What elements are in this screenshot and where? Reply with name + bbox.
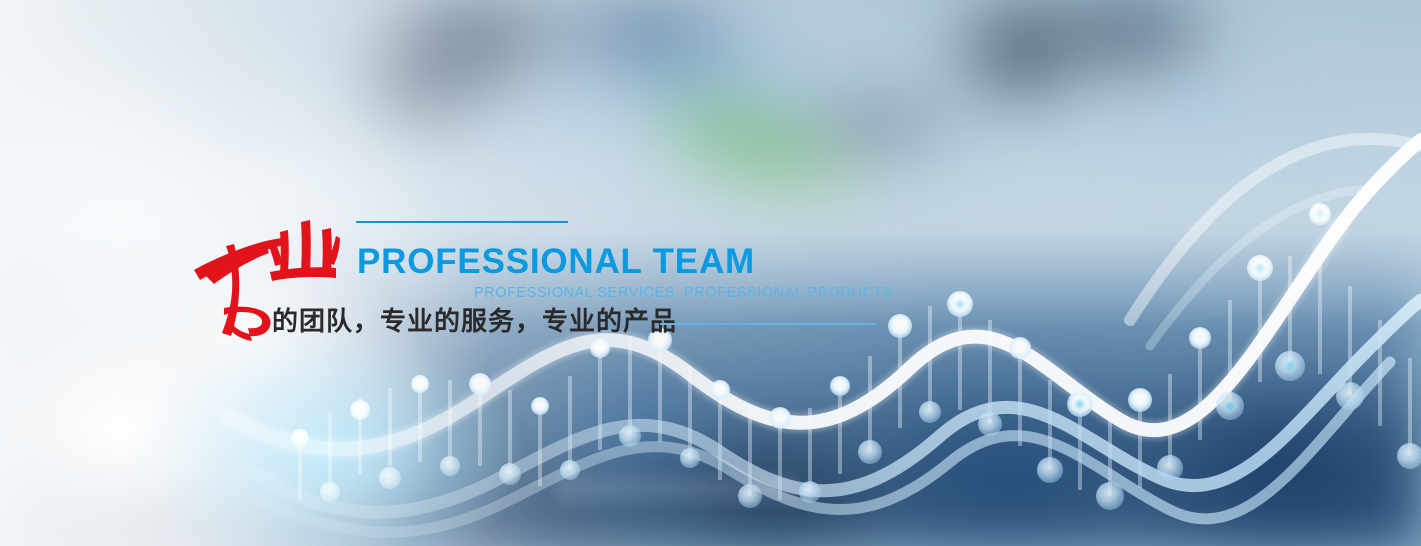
page-subtitle: PROFESSIONAL SERVICES, PROFESSIONAL PROD… [474, 286, 893, 301]
tagline-rule-bottom [660, 323, 876, 325]
banner-text-block: PROFESSIONAL TEAM PROFESSIONAL SERVICES,… [0, 0, 1421, 546]
page-tagline: 的团队，专业的服务，专业的产品 [272, 306, 677, 339]
hero-banner: PROFESSIONAL TEAM PROFESSIONAL SERVICES,… [0, 0, 1421, 546]
page-title: PROFESSIONAL TEAM [357, 244, 755, 279]
heading-rule-top [356, 221, 568, 223]
